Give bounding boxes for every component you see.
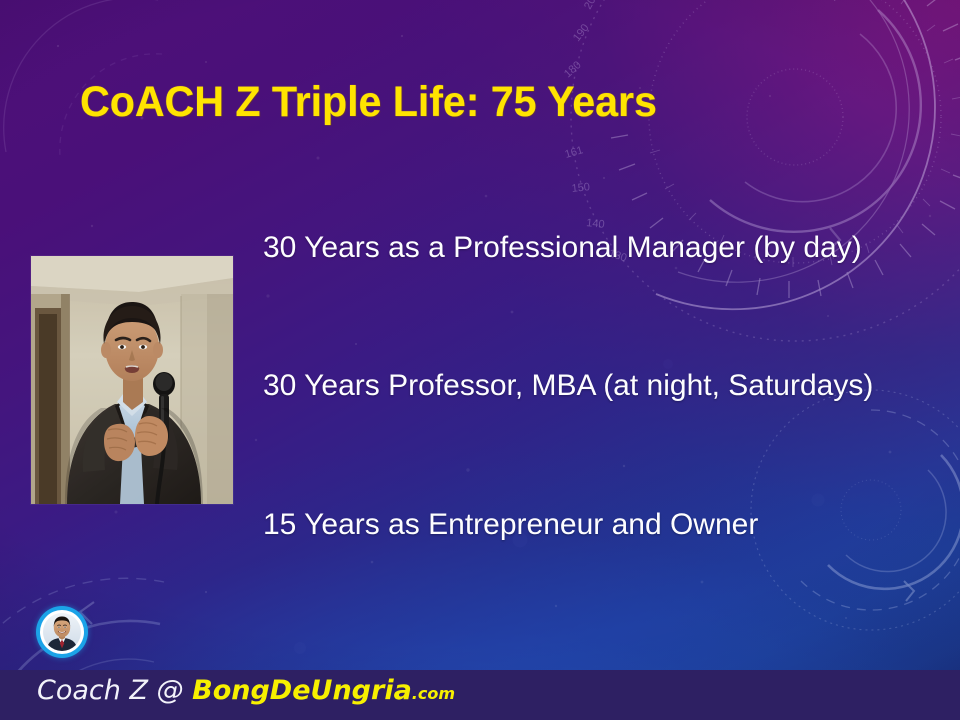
slide-title: CoACH Z Triple Life: 75 Years bbox=[80, 76, 867, 128]
speaker-photo bbox=[31, 256, 233, 504]
footer-prefix: Coach Z @ bbox=[37, 675, 192, 706]
avatar-face bbox=[43, 613, 81, 651]
footer-tld: .com bbox=[412, 684, 455, 703]
bullet-line-1: 30 Years as a Professional Manager (by d… bbox=[263, 231, 862, 265]
coach-z-avatar bbox=[36, 606, 88, 658]
bullet-line-2: 30 Years Professor, MBA (at night, Satur… bbox=[263, 369, 873, 403]
footer-brand: BongDeUngria bbox=[192, 675, 412, 706]
avatar-white-ring bbox=[40, 610, 84, 654]
footer-branding: Coach Z @ BongDeUngria.com bbox=[37, 676, 455, 709]
presentation-slide: 200 190 180 161 150 140 130 bbox=[0, 0, 960, 720]
speaker-photo-image bbox=[31, 256, 233, 504]
bullet-line-3: 15 Years as Entrepreneur and Owner bbox=[263, 508, 758, 542]
